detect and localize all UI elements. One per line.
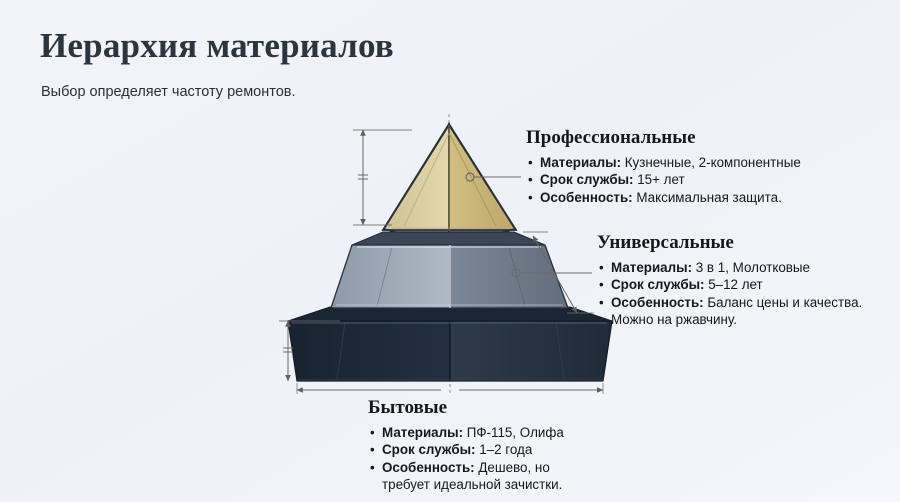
bullet-label: Срок службы: [611, 277, 705, 292]
universal-cap [352, 232, 545, 245]
callout-list-household: • Материалы: ПФ-115, Олифа • Срок службы… [368, 424, 564, 494]
list-item: • Материалы: Кузнечные, 2-компонентные [526, 154, 801, 171]
bullet-value: 1–2 года [476, 442, 533, 457]
callout-heading-universal: Универсальные [597, 232, 862, 254]
bullet-value: Кузнечные, 2-компонентные [621, 155, 801, 170]
bullet-glyph: • [370, 441, 375, 458]
bullet-continuation: требует идеальной зачистки. [382, 476, 564, 493]
bullet-label: Материалы: [611, 260, 692, 275]
callout-universal: Универсальные • Материалы: 3 в 1, Молотк… [597, 232, 862, 329]
bullet-glyph: • [599, 294, 604, 311]
pyramid-tier-household [288, 307, 612, 381]
list-item: • Особенность: Баланс цены и качества. М… [597, 294, 862, 329]
callout-heading-household: Бытовые [368, 397, 564, 419]
bullet-glyph: • [370, 459, 375, 476]
household-face-left [288, 321, 450, 381]
bullet-glyph: • [599, 276, 604, 293]
household-face-right [450, 321, 612, 381]
callout-list-professional: • Материалы: Кузнечные, 2-компонентные •… [526, 154, 801, 206]
bullet-value: 5–12 лет [705, 277, 763, 292]
bullet-label: Материалы: [540, 155, 621, 170]
bullet-glyph: • [599, 259, 604, 276]
bullet-label: Особенность: [611, 295, 704, 310]
callout-list-universal: • Материалы: 3 в 1, Молотковые • Срок сл… [597, 259, 862, 329]
list-item: • Особенность: Максимальная защита. [526, 189, 801, 206]
callout-heading-professional: Профессиональные [526, 127, 801, 149]
bullet-label: Срок службы: [540, 172, 634, 187]
callout-professional: Профессиональные • Материалы: Кузнечные,… [526, 127, 801, 206]
list-item: • Срок службы: 1–2 года [368, 441, 564, 458]
bullet-value: 15+ лет [634, 172, 685, 187]
pyramid-tier-professional [383, 124, 516, 232]
bullet-glyph: • [528, 154, 533, 171]
bullet-value: Баланс цены и качества. [704, 295, 863, 310]
bullet-value: ПФ-115, Олифа [463, 425, 564, 440]
pyramid-tier-universal [331, 232, 568, 308]
bullet-value: Максимальная защита. [633, 190, 782, 205]
list-item: • Срок службы: 15+ лет [526, 171, 801, 188]
bullet-continuation: Можно на ржавчину. [611, 311, 862, 328]
bullet-value: 3 в 1, Молотковые [692, 260, 810, 275]
household-cap [288, 307, 612, 321]
list-item: • Особенность: Дешево, но требует идеаль… [368, 459, 564, 494]
bullet-glyph: • [528, 171, 533, 188]
bullet-glyph: • [528, 189, 533, 206]
bullet-label: Особенность: [382, 460, 475, 475]
bullet-glyph: • [370, 424, 375, 441]
bullet-value: Дешево, но [475, 460, 550, 475]
callout-household: Бытовые • Материалы: ПФ-115, Олифа • Сро… [368, 397, 564, 494]
universal-face-right [450, 245, 568, 308]
bullet-label: Материалы: [382, 425, 463, 440]
bullet-label: Особенность: [540, 190, 633, 205]
list-item: • Материалы: ПФ-115, Олифа [368, 424, 564, 441]
bullet-label: Срок службы: [382, 442, 476, 457]
list-item: • Срок службы: 5–12 лет [597, 276, 862, 293]
list-item: • Материалы: 3 в 1, Молотковые [597, 259, 862, 276]
